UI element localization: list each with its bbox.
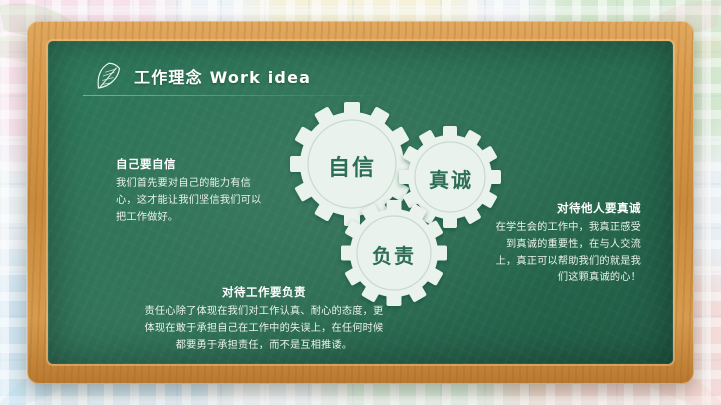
body-confidence: 我们首先要对自己的能力有信心，这才能让我们坚信我们可以把工作做好。 [116, 176, 266, 226]
gear-label-responsibility: 负责 [366, 240, 422, 269]
body-responsibility: 责任心除了体现在我们对工作认真、耐心的态度，更体现在敢于承担自己在工作中的失误上… [144, 304, 384, 354]
text-block-confidence: 自己要自信 我们首先要对自己的能力有信心，这才能让我们坚信我们可以把工作做好。 [116, 157, 266, 226]
title-underline [83, 95, 383, 96]
slide-canvas: 工作理念 Work idea [0, 0, 721, 405]
chalkboard: 工作理念 Work idea [48, 41, 673, 364]
gear-graphics [284, 101, 504, 316]
gear-cluster: 自信 真诚 负责 [284, 101, 504, 316]
title-row: 工作理念 Work idea [94, 61, 311, 91]
leaf-icon [94, 61, 124, 91]
gear-label-sincerity: 真诚 [423, 164, 479, 193]
heading-responsibility: 对待工作要负责 [144, 285, 384, 300]
text-block-sincerity: 对待他人要真诚 在学生会的工作中，我真正感受到真诚的重要性，在与人交流上，真正可… [491, 201, 641, 287]
gear-label-confidence: 自信 [324, 150, 380, 182]
heading-sincerity: 对待他人要真诚 [491, 201, 641, 216]
text-block-responsibility: 对待工作要负责 责任心除了体现在我们对工作认真、耐心的态度，更体现在敢于承担自己… [144, 285, 384, 354]
page-title: 工作理念 Work idea [134, 64, 311, 88]
body-sincerity: 在学生会的工作中，我真正感受到真诚的重要性，在与人交流上，真正可以帮助我们的就是… [491, 220, 641, 287]
heading-confidence: 自己要自信 [116, 157, 266, 172]
